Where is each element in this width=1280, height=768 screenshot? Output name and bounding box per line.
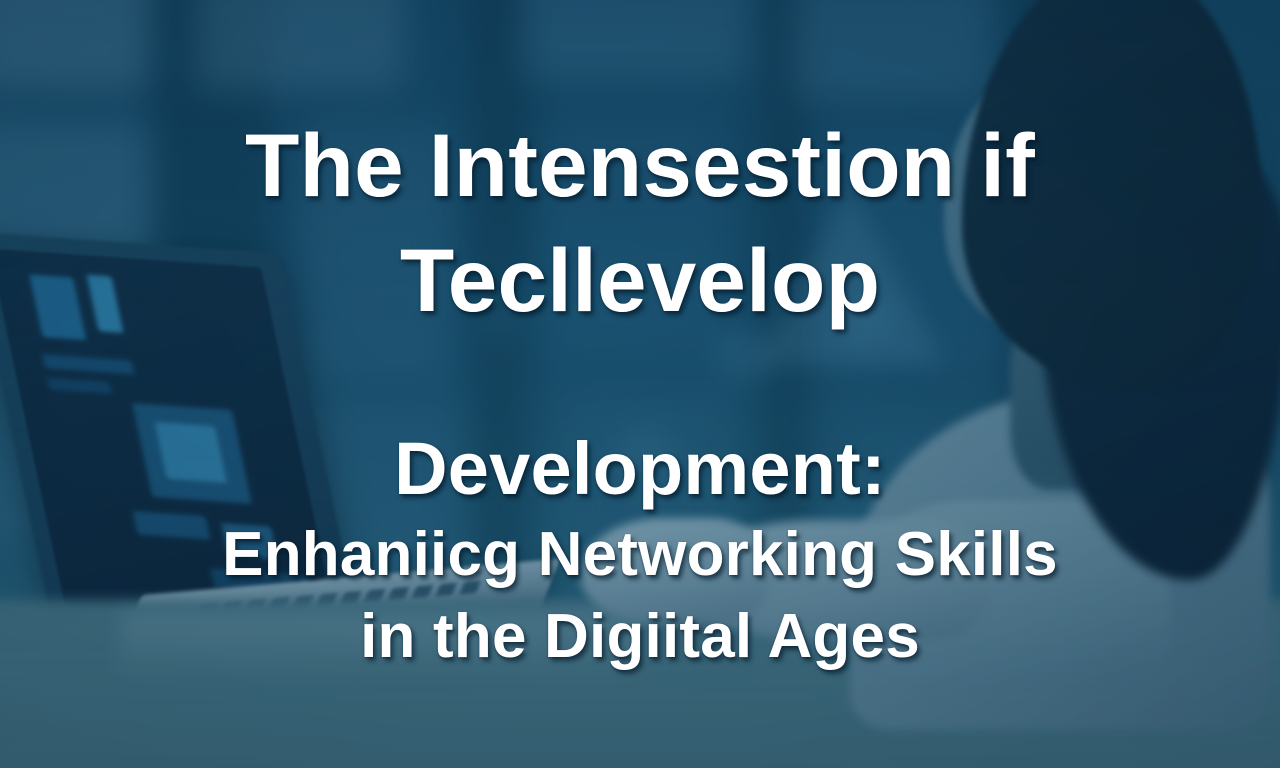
vignette [0,0,1280,768]
header-image: The Intensestion if Tecllevelop Developm… [0,0,1280,768]
